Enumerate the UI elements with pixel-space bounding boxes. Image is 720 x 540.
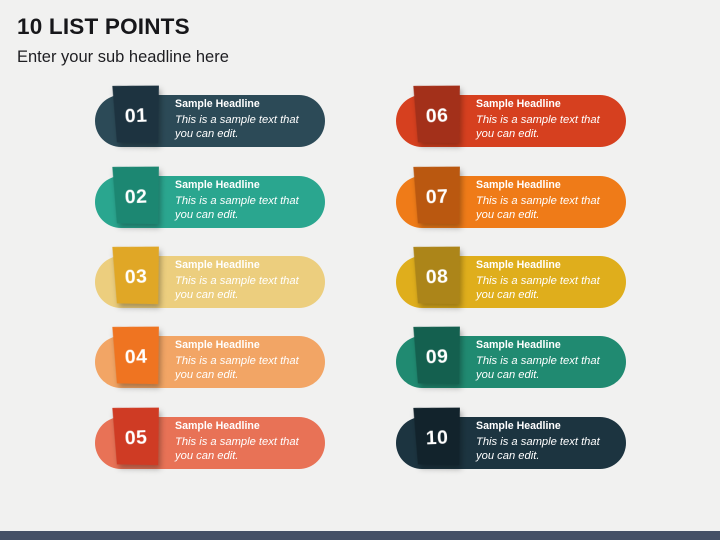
list-item[interactable]: Sample HeadlineThis is a sample text tha… xyxy=(95,246,325,308)
list-item-number: 07 xyxy=(412,165,462,226)
list-item-body: This is a sample text that you can edit. xyxy=(175,194,310,222)
list-item-number-tab: 10 xyxy=(412,406,462,467)
list-item[interactable]: Sample HeadlineThis is a sample text tha… xyxy=(396,166,626,228)
list-item-text-block: Sample HeadlineThis is a sample text tha… xyxy=(175,98,315,141)
list-item-body: This is a sample text that you can edit. xyxy=(476,194,611,222)
list-item-headline: Sample Headline xyxy=(175,179,315,192)
list-item-body: This is a sample text that you can edit. xyxy=(476,113,611,141)
list-item-number: 03 xyxy=(111,245,161,306)
list-item-text-block: Sample HeadlineThis is a sample text tha… xyxy=(175,339,315,382)
list-item-headline: Sample Headline xyxy=(476,259,616,272)
list-item-body: This is a sample text that you can edit. xyxy=(175,354,310,382)
list-item-body: This is a sample text that you can edit. xyxy=(175,274,310,302)
list-item-text-block: Sample HeadlineThis is a sample text tha… xyxy=(476,259,616,302)
list-item-text-block: Sample HeadlineThis is a sample text tha… xyxy=(476,339,616,382)
list-item-headline: Sample Headline xyxy=(175,98,315,111)
list-item-headline: Sample Headline xyxy=(476,179,616,192)
list-item-number: 04 xyxy=(111,325,161,386)
list-item-number-tab: 02 xyxy=(111,165,161,226)
list-item-body: This is a sample text that you can edit. xyxy=(175,113,310,141)
slide-canvas: 10 LIST POINTS Enter your sub headline h… xyxy=(0,0,720,540)
list-item-number-tab: 05 xyxy=(111,406,161,467)
list-item-text-block: Sample HeadlineThis is a sample text tha… xyxy=(175,420,315,463)
list-item-body: This is a sample text that you can edit. xyxy=(476,274,611,302)
list-item-number: 08 xyxy=(412,245,462,306)
list-item[interactable]: Sample HeadlineThis is a sample text tha… xyxy=(95,85,325,147)
list-item-text-block: Sample HeadlineThis is a sample text tha… xyxy=(476,420,616,463)
list-item-body: This is a sample text that you can edit. xyxy=(476,354,611,382)
list-item[interactable]: Sample HeadlineThis is a sample text tha… xyxy=(396,326,626,388)
list-item[interactable]: Sample HeadlineThis is a sample text tha… xyxy=(396,85,626,147)
list-item-number: 01 xyxy=(111,84,161,145)
list-item[interactable]: Sample HeadlineThis is a sample text tha… xyxy=(95,166,325,228)
list-item-headline: Sample Headline xyxy=(175,420,315,433)
list-item[interactable]: Sample HeadlineThis is a sample text tha… xyxy=(95,326,325,388)
list-item-text-block: Sample HeadlineThis is a sample text tha… xyxy=(175,179,315,222)
list-item-text-block: Sample HeadlineThis is a sample text tha… xyxy=(476,98,616,141)
list-item-number: 09 xyxy=(412,325,462,386)
list-item-number-tab: 07 xyxy=(412,165,462,226)
list-item-number-tab: 06 xyxy=(412,84,462,145)
list-item-number-tab: 01 xyxy=(111,84,161,145)
list-item-number-tab: 04 xyxy=(111,325,161,386)
list-item-headline: Sample Headline xyxy=(175,339,315,352)
list-item-number: 05 xyxy=(111,406,161,467)
list-points-area: Sample HeadlineThis is a sample text tha… xyxy=(0,0,720,540)
list-item-number: 10 xyxy=(412,406,462,467)
list-item-text-block: Sample HeadlineThis is a sample text tha… xyxy=(175,259,315,302)
list-item-headline: Sample Headline xyxy=(476,420,616,433)
list-item-number: 06 xyxy=(412,84,462,145)
list-item-body: This is a sample text that you can edit. xyxy=(175,435,310,463)
list-item-number-tab: 08 xyxy=(412,245,462,306)
list-item[interactable]: Sample HeadlineThis is a sample text tha… xyxy=(396,407,626,469)
list-item-number-tab: 03 xyxy=(111,245,161,306)
list-item-headline: Sample Headline xyxy=(476,339,616,352)
list-item[interactable]: Sample HeadlineThis is a sample text tha… xyxy=(396,246,626,308)
list-item-text-block: Sample HeadlineThis is a sample text tha… xyxy=(476,179,616,222)
list-item-number: 02 xyxy=(111,165,161,226)
list-item-body: This is a sample text that you can edit. xyxy=(476,435,611,463)
footer-bar xyxy=(0,531,720,540)
list-item-number-tab: 09 xyxy=(412,325,462,386)
list-item[interactable]: Sample HeadlineThis is a sample text tha… xyxy=(95,407,325,469)
list-item-headline: Sample Headline xyxy=(175,259,315,272)
list-item-headline: Sample Headline xyxy=(476,98,616,111)
